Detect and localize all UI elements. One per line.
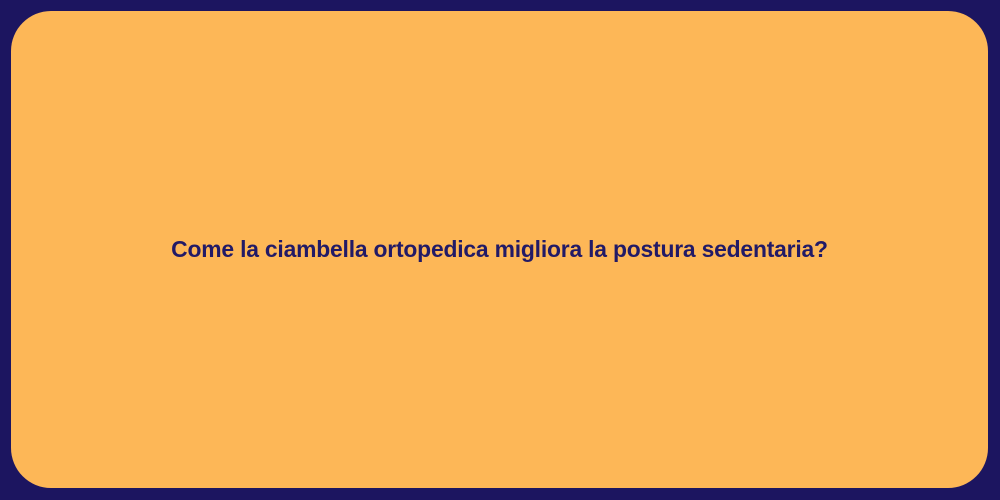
question-card: Come la ciambella ortopedica migliora la… <box>11 11 988 488</box>
page-title: Come la ciambella ortopedica migliora la… <box>39 235 960 264</box>
outer-frame: Come la ciambella ortopedica migliora la… <box>0 0 1000 500</box>
card-content: Come la ciambella ortopedica migliora la… <box>11 235 988 264</box>
